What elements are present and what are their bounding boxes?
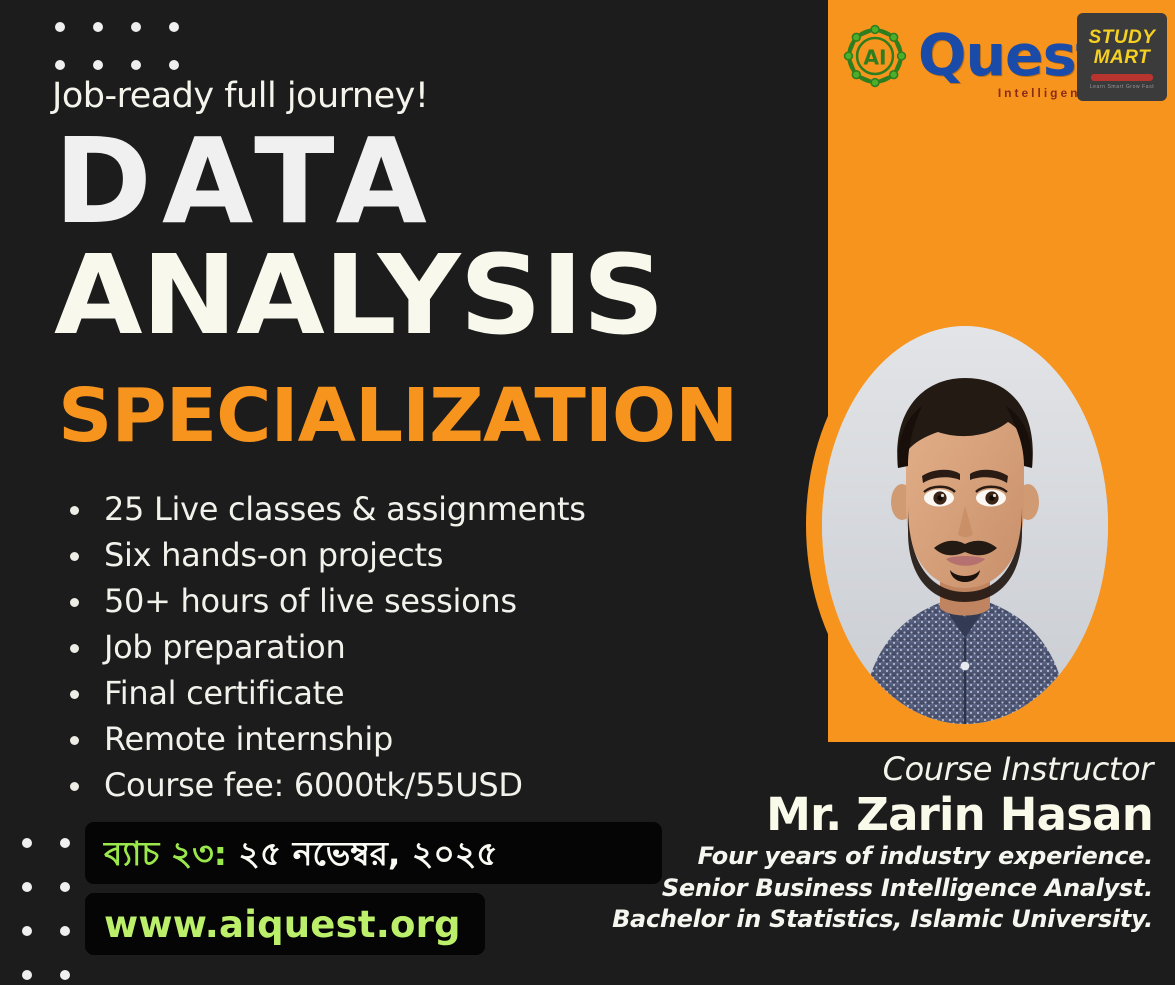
dot <box>55 60 65 70</box>
brand-logo: AI Quest Intelligence <box>836 8 1102 104</box>
list-item: Six hands-on projects <box>60 532 586 578</box>
list-item: 50+ hours of live sessions <box>60 578 586 624</box>
studymart-logo: STUDY MART Learn Smart Grow Fast <box>1077 13 1167 101</box>
website-banner[interactable]: www.aiquest.org <box>85 893 485 955</box>
dot <box>55 22 65 32</box>
instructor-name: Mr. Zarin Hasan <box>563 788 1153 841</box>
batch-label: ব্যাচ ২৩: <box>104 834 227 873</box>
poster-title-line2: ANALYSIS <box>54 240 664 350</box>
dot <box>93 60 103 70</box>
poster-kicker: Job-ready full journey! <box>52 76 428 116</box>
instructor-info: Course Instructor Mr. Zarin Hasan Four y… <box>563 752 1153 936</box>
dot <box>22 882 32 892</box>
list-item: Final certificate <box>60 670 586 716</box>
instructor-credential: Four years of industry experience. <box>563 841 1153 873</box>
dot <box>22 970 32 980</box>
portrait-orange-ring <box>806 310 1124 740</box>
ai-network-icon: AI <box>836 17 914 95</box>
portrait-photo <box>822 326 1108 724</box>
studymart-underline-bar <box>1091 74 1153 81</box>
poster-title-line3: SPECIALIZATION <box>58 379 737 453</box>
dot <box>93 22 103 32</box>
list-item: Remote internship <box>60 716 586 762</box>
instructor-portrait <box>806 310 1124 740</box>
dot <box>60 838 70 848</box>
dot <box>131 60 141 70</box>
dot <box>169 22 179 32</box>
studymart-line2: MART <box>1094 48 1151 67</box>
studymart-line1: STUDY <box>1089 28 1156 47</box>
list-item: 25 Live classes & assignments <box>60 486 586 532</box>
dot <box>60 926 70 936</box>
studymart-tagline: Learn Smart Grow Fast <box>1090 84 1155 90</box>
instructor-credential: Senior Business Intelligence Analyst. <box>563 873 1153 905</box>
poster-title-line1: DATA <box>54 122 437 240</box>
list-item: Course fee: 6000tk/55USD <box>60 762 586 808</box>
brand-name: Quest <box>918 23 1102 89</box>
course-promo-poster: AI Quest Intelligence STUDY MART Learn S… <box>0 0 1175 985</box>
website-url[interactable]: www.aiquest.org <box>104 903 461 946</box>
batch-date: ২৫ নভেম্বর, ২০২৫ <box>227 834 498 873</box>
dot <box>131 22 141 32</box>
list-item: Job preparation <box>60 624 586 670</box>
batch-text: ব্যাচ ২৩: ২৫ নভেম্বর, ২০২৫ <box>104 837 498 870</box>
instructor-credential: Bachelor in Statistics, Islamic Universi… <box>563 904 1153 936</box>
dot <box>22 926 32 936</box>
instructor-role: Course Instructor <box>563 752 1153 788</box>
dot <box>60 882 70 892</box>
brand-wordmark: Quest Intelligence <box>918 28 1102 85</box>
dot <box>60 970 70 980</box>
svg-text:AI: AI <box>863 46 886 70</box>
course-feature-list: 25 Live classes & assignments Six hands-… <box>60 486 586 808</box>
dot <box>22 838 32 848</box>
dot <box>169 60 179 70</box>
